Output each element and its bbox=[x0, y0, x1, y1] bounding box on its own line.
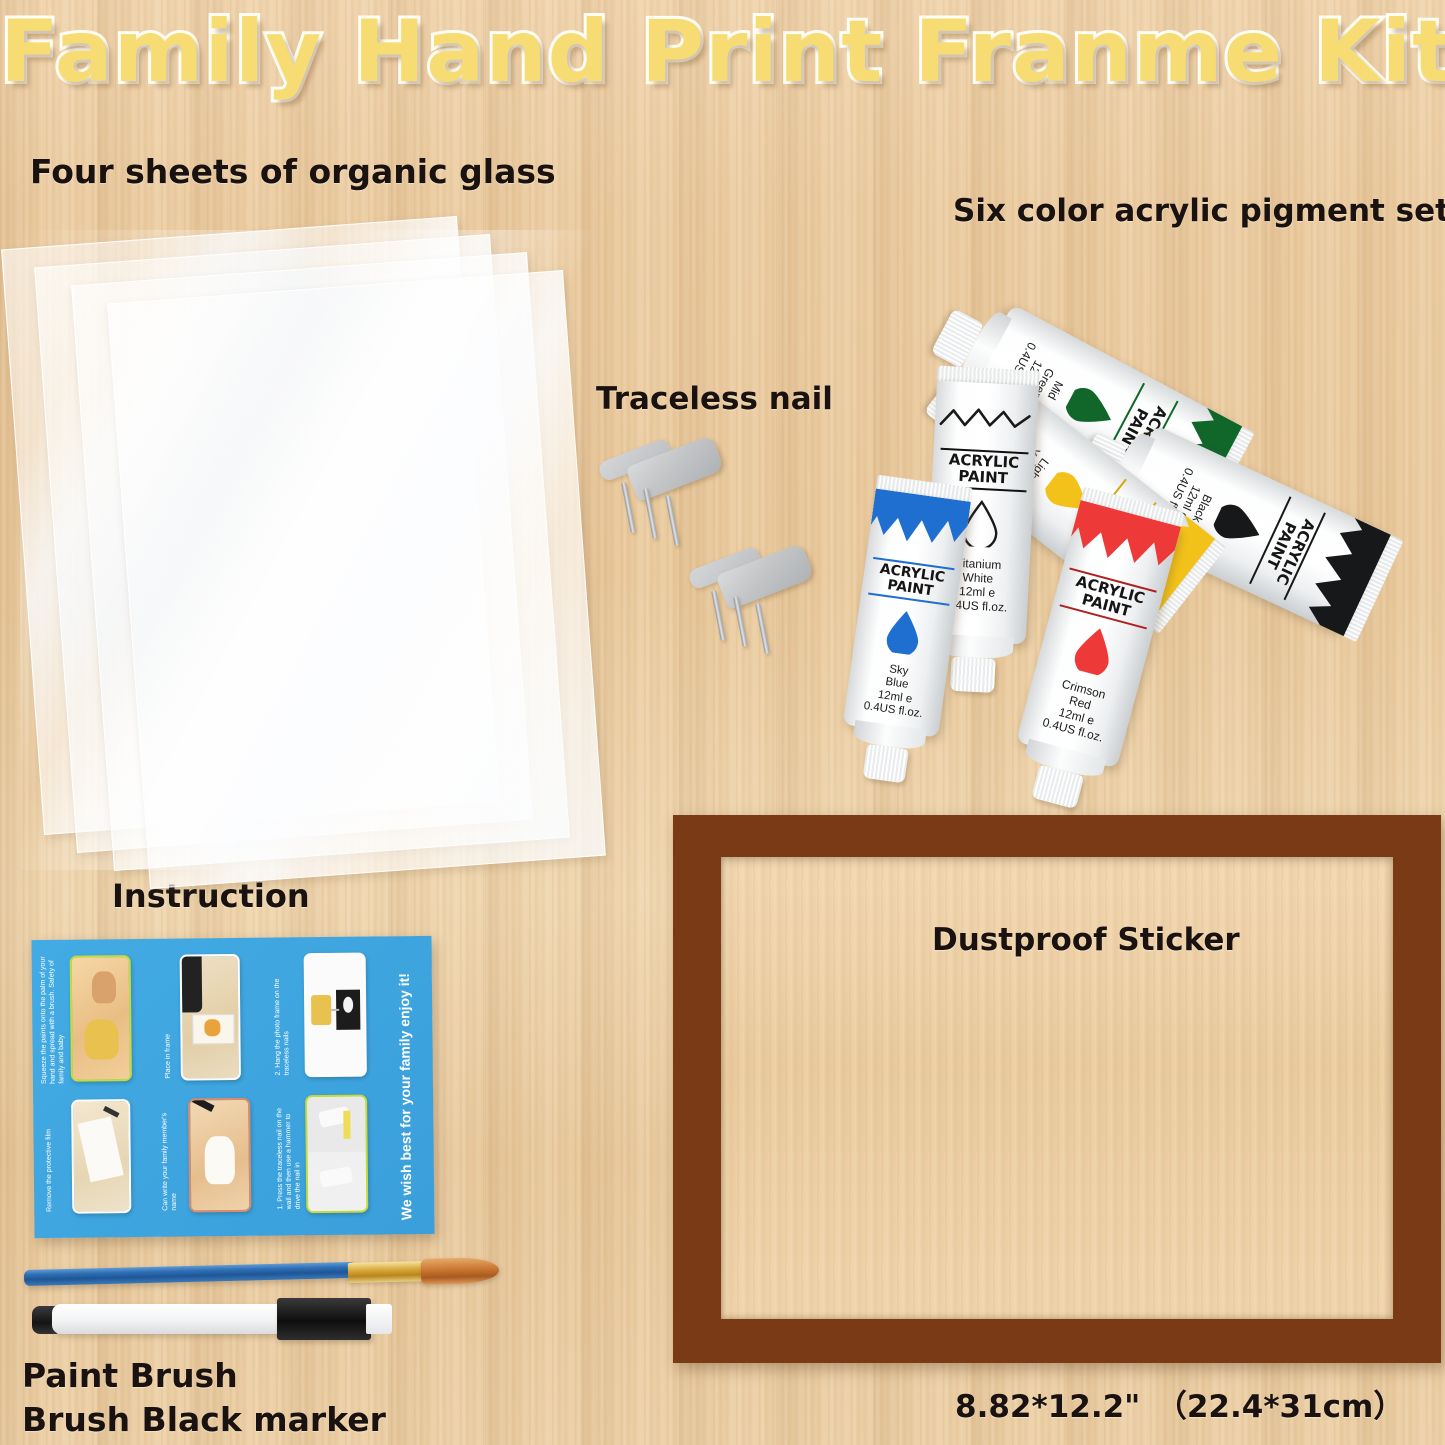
glass-sheet bbox=[107, 270, 606, 889]
caption-organic-glass: Four sheets of organic glass bbox=[30, 152, 556, 191]
marker-barrel bbox=[52, 1304, 284, 1334]
instruction-card: Squeeze the paints onto the palm of your… bbox=[31, 936, 434, 1238]
instruction-step-text-3: 2. Hang the photo frame on the traceless… bbox=[274, 951, 295, 1075]
instruction-thumb-4 bbox=[71, 1099, 131, 1214]
tube-label: ACRYLIC PAINT Crimson Red 12ml e 0.4US f… bbox=[1028, 568, 1157, 749]
brush-ferrule bbox=[348, 1261, 426, 1283]
tube-meta: Sky Blue 12ml e 0.4US fl.oz. bbox=[851, 659, 940, 723]
tube-color-splash bbox=[934, 380, 1039, 447]
product-infographic: Family Hand Print Franme Kit Four sheets… bbox=[0, 0, 1445, 1445]
brush-handle bbox=[24, 1262, 354, 1286]
instruction-step-text-1: Squeeze the paints onto the palm of your… bbox=[40, 954, 67, 1084]
page-title: Family Hand Print Franme Kit bbox=[0, 2, 1445, 102]
tube-cap bbox=[949, 657, 996, 693]
instruction-thumb-3 bbox=[304, 953, 367, 1078]
instruction-closing-text: We wish best for your family enjoy it! bbox=[396, 952, 423, 1220]
caption-black-marker: Brush Black marker bbox=[22, 1400, 386, 1439]
paint-tube-sky-blue: ACRYLIC PAINT Sky Blue 12ml e 0.4US fl.o… bbox=[839, 475, 973, 764]
instruction-step-text-4: Remove the protective film bbox=[45, 1102, 60, 1212]
nail-pin bbox=[665, 495, 680, 546]
tube-cap bbox=[862, 744, 909, 784]
splash-shape bbox=[934, 380, 1039, 447]
brush-bristles bbox=[421, 1257, 500, 1285]
caption-traceless-nail: Traceless nail bbox=[596, 381, 833, 417]
photo-frame bbox=[673, 815, 1441, 1363]
instruction-thumb-1 bbox=[70, 955, 132, 1082]
splash-shape bbox=[867, 489, 971, 564]
instruction-step-text-5: Can write your family member's name bbox=[161, 1101, 182, 1211]
traceless-nail bbox=[690, 548, 820, 648]
nail-body bbox=[625, 435, 724, 503]
caption-paint-brush: Paint Brush bbox=[22, 1356, 238, 1395]
caption-dustproof-sticker: Dustproof Sticker bbox=[932, 922, 1240, 958]
instruction-step-text-6: 1. Press the traceless nail on the wall … bbox=[276, 1099, 299, 1209]
instruction-thumb-6 bbox=[305, 1095, 368, 1214]
tube-color-splash bbox=[867, 489, 971, 564]
nail-pin bbox=[755, 603, 770, 654]
nail-body bbox=[715, 543, 814, 611]
caption-pigment-set: Six color acrylic pigment set bbox=[953, 193, 1445, 229]
instruction-thumb-5 bbox=[188, 1098, 251, 1213]
instruction-step-text-2: Place in frame bbox=[164, 1025, 179, 1079]
frame-size-label: 8.82*12.2" （22.4*31cm） bbox=[955, 1381, 1404, 1426]
marker-tip bbox=[366, 1304, 392, 1334]
traceless-nail bbox=[600, 440, 730, 540]
marker-cap bbox=[277, 1298, 371, 1340]
tube-drop-icon bbox=[860, 603, 949, 664]
instruction-thumb-2 bbox=[180, 954, 241, 1081]
